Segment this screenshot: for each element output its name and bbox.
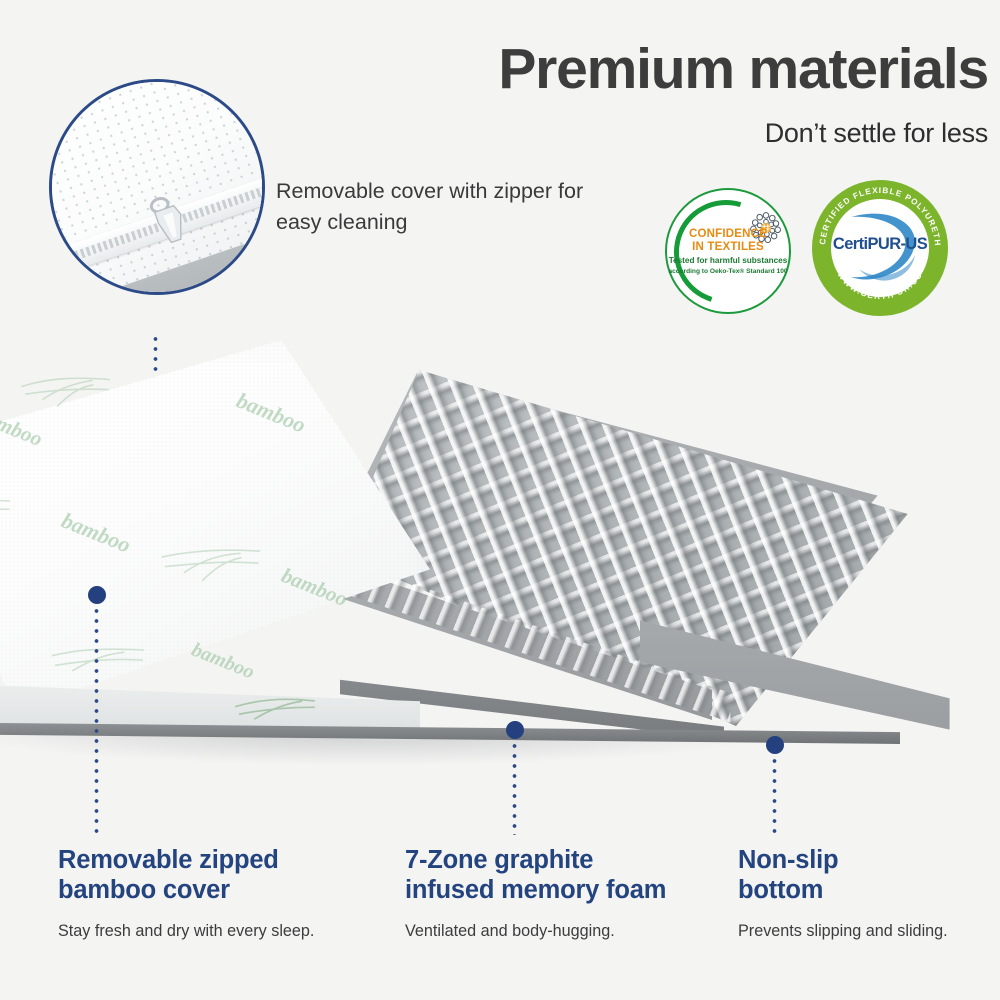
oeko-tex-line1-text: CONFIDENCE <box>689 228 767 240</box>
oeko-tex-line4: according to Oeko-Tex® Standard 100 <box>665 268 791 276</box>
feature-1-title-line2: bamboo cover <box>58 876 230 904</box>
oeko-tex-badge: CONFIDENCEIN TEXTILES Tested for harmful… <box>660 188 798 306</box>
connector-dot-cover <box>88 586 106 604</box>
page-subtitle: Don’t settle for less <box>398 118 988 149</box>
feature-2-description: Ventilated and body-hugging. <box>405 921 725 943</box>
infographic-canvas: Premium materials Don’t settle for less <box>0 0 1000 1000</box>
feature-2-title-line1: 7-Zone graphite <box>405 846 593 874</box>
product-illustration: bamboo bamboo bamboo bamboo bamboo bambo… <box>0 330 1000 800</box>
feature-removable-cover: Removable zipped bamboo cover Stay fresh… <box>58 845 378 943</box>
feature-1-description: Stay fresh and dry with every sleep. <box>58 921 378 943</box>
foam-peaks-texture <box>340 330 1000 730</box>
zipper-callout-text: Removable cover with zipper for easy cle… <box>276 176 606 237</box>
feature-3-title-line1: Non-slip <box>738 846 838 874</box>
oeko-tex-line3: Tested for harmful substances <box>665 256 791 266</box>
connector-line-cover <box>94 606 99 834</box>
eggcrate-foam-block <box>340 330 1000 750</box>
zipper-closeup-circle <box>49 79 265 295</box>
feature-memory-foam: 7-Zone graphite infused memory foam Vent… <box>405 845 725 943</box>
feature-2-title: 7-Zone graphite infused memory foam <box>405 845 725 905</box>
page-title: Premium materials <box>398 40 988 100</box>
connector-dot-nonslip <box>766 736 784 754</box>
feature-1-title: Removable zipped bamboo cover <box>58 845 378 905</box>
feature-3-title: Non-slip bottom <box>738 845 988 905</box>
oeko-tex-line2-text: IN TEXTILES <box>692 241 764 253</box>
connector-dot-foam <box>506 721 524 739</box>
feature-3-title-line2: bottom <box>738 876 823 904</box>
connector-line-foam <box>512 741 517 835</box>
certification-badges: CONFIDENCEIN TEXTILES Tested for harmful… <box>660 180 960 315</box>
certipur-us-badge: CONTAINS CERTIFIED FLEXIBLE POLYURETHANE… <box>812 180 952 318</box>
feature-2-title-line2: infused memory foam <box>405 876 666 904</box>
certipur-wordmark-text: CertiPUR-US <box>833 235 927 253</box>
oeko-tex-line1: CONFIDENCEIN TEXTILES <box>665 228 791 254</box>
connector-line-nonslip <box>772 756 777 836</box>
certipur-wordmark: CertiPUR-US <box>831 235 929 254</box>
feature-non-slip: Non-slip bottom Prevents slipping and sl… <box>738 845 988 943</box>
bamboo-leaf-icon <box>14 347 115 422</box>
feature-1-title-line1: Removable zipped <box>58 846 279 874</box>
feature-3-description: Prevents slipping and sliding. <box>738 921 988 943</box>
